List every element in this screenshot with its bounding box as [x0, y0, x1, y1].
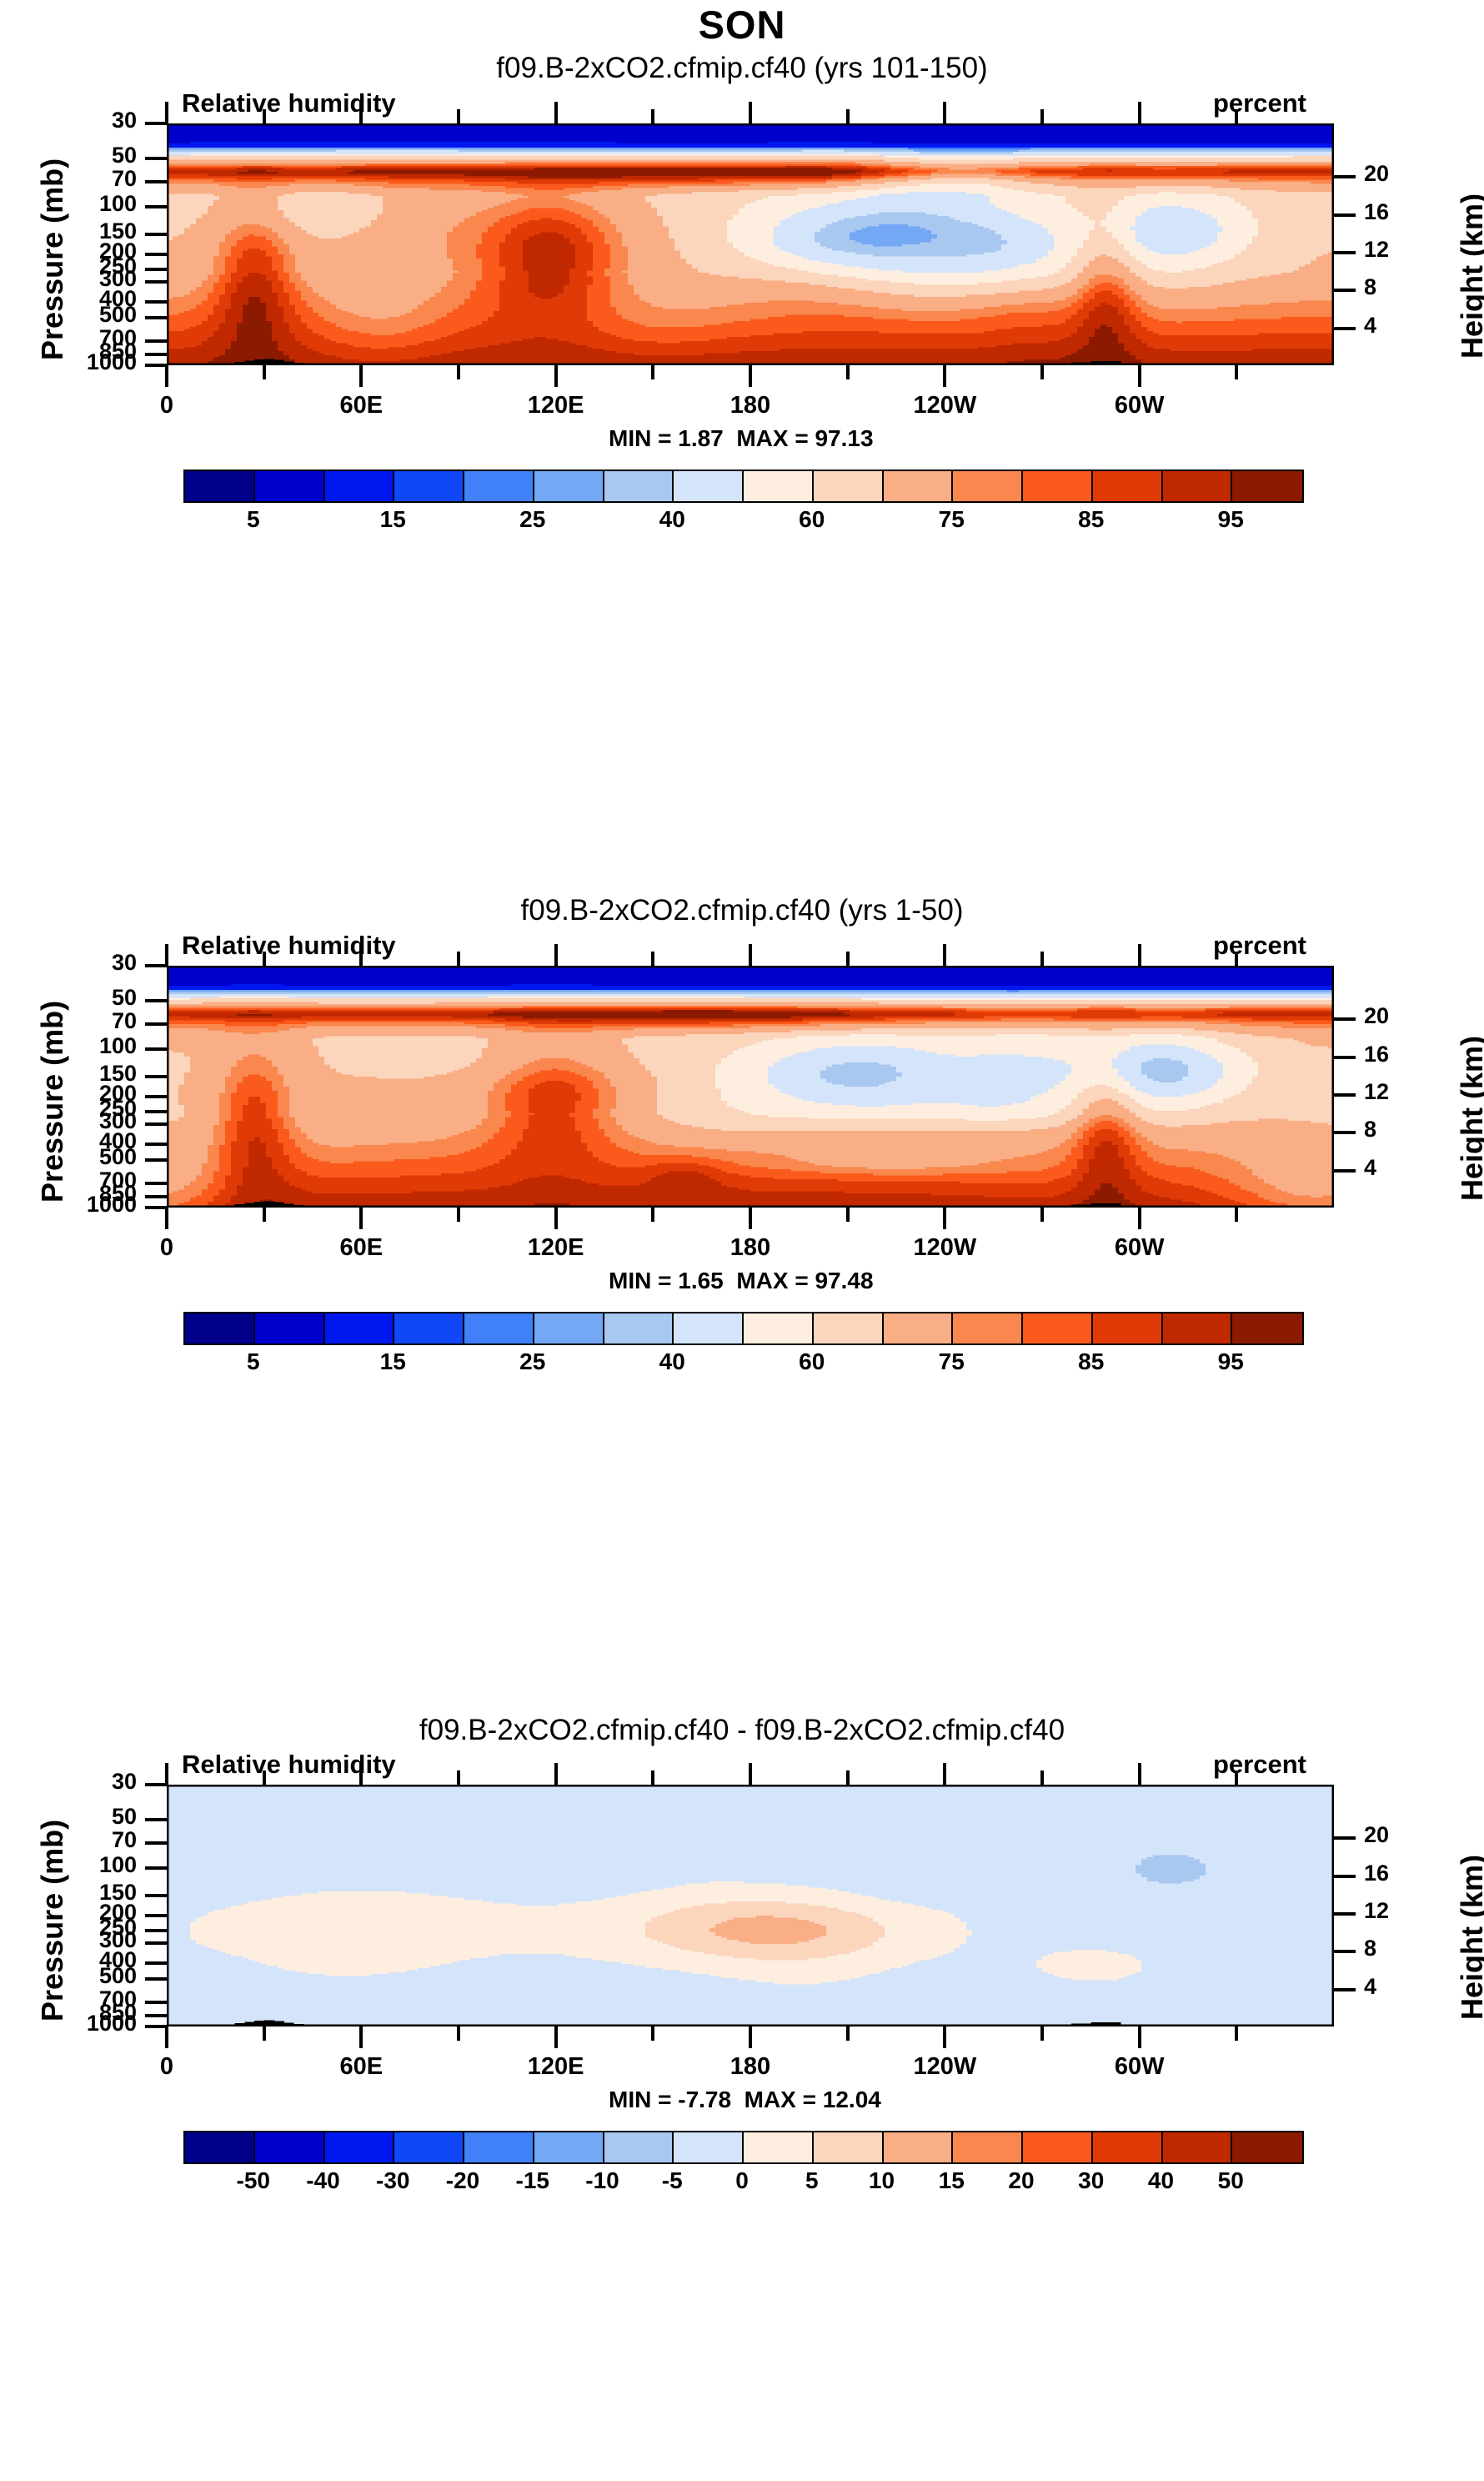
y-tick-label: 30 [45, 108, 137, 133]
colorbar-cell [884, 1313, 954, 1343]
units-label: percent [1213, 1750, 1306, 1780]
x-tick-mark-top [1040, 109, 1044, 123]
colorbar-cell [185, 2132, 255, 2162]
y-tick-label-right: 16 [1364, 1861, 1439, 1886]
y-tick-mark-right [1334, 1056, 1356, 1059]
y-tick-mark-right [1334, 213, 1356, 217]
x-tick-mark [1138, 365, 1141, 387]
x-tick-mark [457, 1208, 460, 1222]
y-tick-mark [145, 300, 167, 304]
minmax-min-value: 1.65 [678, 1268, 724, 1293]
x-tick-label: 120E [498, 2053, 614, 2081]
colorbar-cell [1232, 2132, 1302, 2162]
colorbar-label: 25 [495, 1348, 570, 1375]
x-tick-mark-top [165, 1763, 168, 1785]
colorbar-label: 75 [914, 1348, 989, 1375]
minmax-min-label: MIN = [609, 425, 671, 451]
x-tick-mark-top [1040, 952, 1044, 966]
minmax-min-label: MIN = [609, 1268, 671, 1293]
x-tick-label: 60W [1081, 1234, 1198, 1262]
x-tick-mark [1235, 1208, 1238, 1222]
y-tick-mark [145, 1941, 167, 1945]
colorbar-label: 5 [216, 506, 291, 533]
colorbar-label: 40 [634, 506, 709, 533]
y-tick-mark-right [1334, 1912, 1356, 1916]
colorbar-cell [325, 2132, 395, 2162]
x-tick-mark-top [457, 952, 460, 966]
x-tick-mark [651, 2026, 654, 2041]
y-tick-label-right: 20 [1364, 1003, 1439, 1029]
x-tick-mark-top [1138, 944, 1141, 966]
y-tick-mark [145, 1047, 167, 1051]
colorbar-label: 15 [355, 1348, 430, 1375]
x-tick-mark-top [263, 1770, 266, 1785]
x-tick-mark [263, 1208, 266, 1222]
y-tick-label: 30 [45, 1769, 137, 1795]
y-tick-mark [145, 1894, 167, 1897]
x-tick-mark-top [457, 109, 460, 123]
y-tick-mark [145, 1841, 167, 1845]
colorbar-cell [1023, 471, 1093, 501]
x-tick-mark-top [1138, 102, 1141, 123]
minmax-max-value: 97.13 [815, 425, 873, 451]
x-tick-mark-top [359, 1763, 363, 1785]
minmax-max-value: 97.48 [815, 1268, 873, 1293]
panel-title: f09.B-2xCO2.cfmip.cf40 (yrs 1-50) [0, 894, 1484, 927]
min-max-annotation: MIN = -7.78 MAX = 12.04 [609, 2087, 888, 2113]
x-tick-mark [165, 365, 168, 387]
y-tick-mark [145, 1914, 167, 1917]
y-tick-label: 70 [45, 1008, 137, 1034]
y-tick-label: 70 [45, 1827, 137, 1853]
colorbar-cell [1093, 471, 1163, 501]
colorbar-label: 50 [1193, 2167, 1268, 2194]
colorbar-label: 85 [1054, 506, 1129, 533]
variable-label: Relative humidity [182, 931, 396, 961]
colorbar-label: -10 [565, 2167, 640, 2194]
x-tick-mark-top [359, 102, 363, 123]
colorbar-cell [325, 471, 395, 501]
page-title: SON [0, 2, 1484, 48]
y-tick-mark-right [1334, 1093, 1356, 1097]
units-label: percent [1213, 931, 1306, 961]
y-tick-mark [145, 1182, 167, 1185]
y-tick-label-right: 16 [1364, 199, 1439, 225]
y-tick-label: 100 [45, 1852, 137, 1878]
y-axis-title-right: Height (km) [1455, 1036, 1484, 1201]
y-tick-mark-right [1334, 1017, 1356, 1021]
colorbar-cell [534, 2132, 604, 2162]
x-tick-label: 120W [886, 2053, 1003, 2081]
y-tick-label: 50 [45, 1804, 137, 1830]
y-axis-title-right: Height (km) [1455, 1855, 1484, 2020]
colorbar-label: 5 [216, 1348, 291, 1375]
x-tick-mark-top [1138, 1763, 1141, 1785]
y-tick-label: 100 [45, 191, 137, 217]
y-tick-mark [145, 1977, 167, 1981]
y-tick-mark-right [1334, 289, 1356, 292]
y-tick-label: 500 [45, 1144, 137, 1170]
colorbar-label: -20 [425, 2167, 500, 2194]
x-tick-mark [457, 365, 460, 379]
x-tick-label: 60E [303, 2053, 419, 2081]
x-tick-label: 0 [108, 2053, 225, 2081]
colorbar-cell [953, 2132, 1023, 2162]
x-tick-mark [749, 2026, 752, 2048]
colorbar-cell [1163, 2132, 1233, 2162]
colorbar-label: 20 [984, 2167, 1059, 2194]
x-tick-mark-top [1040, 1770, 1044, 1785]
y-tick-mark-right [1334, 1988, 1356, 1991]
minmax-max-value: 12.04 [823, 2087, 881, 2112]
y-tick-mark [145, 1022, 167, 1026]
colorbar-label: 95 [1193, 1348, 1268, 1375]
y-tick-mark [145, 180, 167, 183]
colorbar-label: 60 [775, 1348, 850, 1375]
colorbar-cell [394, 2132, 464, 2162]
colorbar-cell [674, 2132, 744, 2162]
x-tick-mark [846, 2026, 850, 2041]
y-tick-mark [145, 1206, 167, 1209]
colorbar-cell [744, 1313, 814, 1343]
colorbar-cell [534, 1313, 604, 1343]
y-tick-mark-right [1334, 1131, 1356, 1134]
panel-title: f09.B-2xCO2.cfmip.cf40 (yrs 101-150) [0, 52, 1484, 85]
panel-title: f09.B-2xCO2.cfmip.cf40 - f09.B-2xCO2.cfm… [0, 1714, 1484, 1747]
colorbar-cell [464, 471, 534, 501]
x-tick-mark-top [943, 1763, 946, 1785]
x-tick-mark [359, 365, 363, 387]
x-tick-mark [749, 1208, 752, 1229]
x-tick-mark-top [457, 1770, 460, 1785]
y-tick-mark [145, 205, 167, 208]
y-tick-label-right: 16 [1364, 1042, 1439, 1067]
y-tick-mark-right [1334, 327, 1356, 330]
x-tick-mark-top [1235, 109, 1238, 123]
x-tick-mark-top [749, 1763, 752, 1785]
minmax-max-label: MAX = [736, 1268, 808, 1293]
y-tick-label-right: 4 [1364, 1974, 1439, 2000]
y-tick-mark-right [1334, 1875, 1356, 1878]
colorbar-label: 0 [704, 2167, 780, 2194]
x-tick-mark-top [651, 1770, 654, 1785]
y-tick-label: 70 [45, 166, 137, 192]
colorbar-cell [464, 2132, 534, 2162]
y-tick-label: 50 [45, 143, 137, 168]
y-tick-mark [145, 1158, 167, 1162]
y-tick-mark [145, 1122, 167, 1126]
y-tick-mark [145, 364, 167, 367]
x-tick-label: 60E [303, 392, 419, 419]
y-tick-mark [145, 157, 167, 160]
colorbar-cell [1163, 471, 1233, 501]
colorbar-cell [814, 1313, 884, 1343]
colorbar-cell [185, 1313, 255, 1343]
contour-plot [167, 123, 1334, 365]
y-tick-label-right: 20 [1364, 1822, 1439, 1848]
x-tick-mark-top [846, 952, 850, 966]
x-tick-mark [846, 365, 850, 379]
x-tick-mark [1235, 2026, 1238, 2041]
x-tick-mark-top [359, 944, 363, 966]
y-tick-mark-right [1334, 1950, 1356, 1953]
colorbar-cell [325, 1313, 395, 1343]
y-tick-mark [145, 1195, 167, 1198]
colorbar-cell [674, 1313, 744, 1343]
x-tick-mark-top [749, 944, 752, 966]
x-tick-mark [1138, 2026, 1141, 2048]
contour-plot [167, 966, 1334, 1208]
y-tick-mark [145, 253, 167, 256]
y-tick-label: 50 [45, 985, 137, 1011]
x-tick-mark [359, 2026, 363, 2048]
y-tick-mark-right [1334, 1836, 1356, 1840]
colorbar-cell [1232, 1313, 1302, 1343]
y-tick-label-right: 4 [1364, 1155, 1439, 1181]
x-tick-label: 180 [692, 2053, 809, 2081]
colorbar-cell [744, 471, 814, 501]
y-tick-mark [145, 339, 167, 343]
colorbar-label: 60 [775, 506, 850, 533]
colorbar-cell [604, 2132, 674, 2162]
colorbar-label: 30 [1054, 2167, 1129, 2194]
y-tick-mark [145, 280, 167, 284]
y-tick-label-right: 12 [1364, 1079, 1439, 1105]
x-tick-mark [749, 365, 752, 387]
x-tick-mark [651, 1208, 654, 1222]
colorbar-cell [185, 471, 255, 501]
colorbar-label: -50 [216, 2167, 291, 2194]
y-tick-label-right: 8 [1364, 1936, 1439, 1961]
x-tick-mark [943, 2026, 946, 2048]
x-tick-mark [165, 1208, 168, 1229]
colorbar-cell [1093, 1313, 1163, 1343]
y-tick-label-right: 8 [1364, 1117, 1439, 1143]
y-tick-mark [145, 1783, 167, 1786]
colorbar-cell [744, 2132, 814, 2162]
colorbar-cell [1232, 471, 1302, 501]
y-tick-mark [145, 999, 167, 1002]
x-tick-mark-top [263, 952, 266, 966]
y-tick-mark [145, 2014, 167, 2017]
variable-label: Relative humidity [182, 1750, 396, 1780]
colorbar-cell [464, 1313, 534, 1343]
x-tick-mark [943, 365, 946, 387]
y-tick-mark [145, 1961, 167, 1965]
x-tick-mark-top [943, 944, 946, 966]
x-tick-mark-top [749, 102, 752, 123]
x-tick-mark [263, 365, 266, 379]
colorbar-label: 15 [355, 506, 430, 533]
units-label: percent [1213, 88, 1306, 118]
y-tick-label-right: 12 [1364, 1898, 1439, 1924]
x-tick-mark-top [554, 944, 558, 966]
x-tick-mark [1040, 365, 1044, 379]
x-tick-mark [846, 1208, 850, 1222]
colorbar [183, 470, 1304, 503]
minmax-min-value: -7.78 [678, 2087, 731, 2112]
y-tick-label-right: 20 [1364, 161, 1439, 187]
x-tick-label: 120W [886, 1234, 1003, 1262]
x-tick-label: 0 [108, 1234, 225, 1262]
colorbar-cell [814, 471, 884, 501]
y-tick-mark [145, 233, 167, 236]
y-tick-mark-right [1334, 175, 1356, 178]
y-tick-label: 1000 [45, 349, 137, 375]
y-tick-label: 500 [45, 1963, 137, 1989]
x-tick-mark [1040, 1208, 1044, 1222]
y-tick-label-right: 8 [1364, 274, 1439, 300]
x-tick-mark-top [846, 109, 850, 123]
colorbar-cell [1093, 2132, 1163, 2162]
y-tick-mark-right [1334, 1169, 1356, 1173]
colorbar-cell [604, 471, 674, 501]
contour-plot [167, 1785, 1334, 2026]
colorbar-label: -15 [495, 2167, 570, 2194]
y-tick-mark [145, 1075, 167, 1078]
y-tick-mark [145, 2025, 167, 2028]
x-tick-mark-top [846, 1770, 850, 1785]
x-tick-mark [457, 2026, 460, 2041]
colorbar-cell [953, 1313, 1023, 1343]
x-tick-mark [263, 2026, 266, 2041]
colorbar-cell [674, 471, 744, 501]
x-tick-label: 120W [886, 392, 1003, 419]
colorbar [183, 1312, 1304, 1345]
y-tick-label: 1000 [45, 1192, 137, 1218]
colorbar-label: 85 [1054, 1348, 1129, 1375]
y-tick-mark [145, 268, 167, 271]
y-tick-mark [145, 122, 167, 125]
x-tick-mark [554, 1208, 558, 1229]
x-tick-mark-top [554, 102, 558, 123]
x-tick-mark [651, 365, 654, 379]
min-max-annotation: MIN = 1.65 MAX = 97.48 [609, 1268, 880, 1294]
y-tick-label: 30 [45, 950, 137, 976]
x-tick-label: 0 [108, 392, 225, 419]
y-tick-mark [145, 1929, 167, 1932]
colorbar-label: -30 [355, 2167, 430, 2194]
colorbar-cell [1163, 1313, 1233, 1343]
y-tick-label: 100 [45, 1033, 137, 1059]
colorbar-label: 25 [495, 506, 570, 533]
y-tick-mark-right [1334, 251, 1356, 254]
x-tick-label: 60W [1081, 392, 1198, 419]
x-tick-mark-top [263, 109, 266, 123]
minmax-max-label: MAX = [736, 425, 808, 451]
x-tick-mark-top [165, 102, 168, 123]
colorbar-cell [255, 471, 325, 501]
colorbar-label: 40 [1124, 2167, 1199, 2194]
x-tick-mark-top [1235, 952, 1238, 966]
x-tick-mark [359, 1208, 363, 1229]
x-tick-label: 120E [498, 1234, 614, 1262]
x-tick-mark-top [554, 1763, 558, 1785]
x-tick-mark-top [943, 102, 946, 123]
colorbar-cell [534, 471, 604, 501]
y-tick-label: 1000 [45, 2011, 137, 2037]
x-tick-mark-top [651, 952, 654, 966]
x-tick-label: 120E [498, 392, 614, 419]
colorbar-label: -5 [634, 2167, 709, 2194]
x-tick-label: 180 [692, 392, 809, 419]
x-tick-mark [1040, 2026, 1044, 2041]
x-tick-label: 180 [692, 1234, 809, 1262]
colorbar-label: 75 [914, 506, 989, 533]
y-tick-mark [145, 1818, 167, 1821]
y-tick-mark [145, 1110, 167, 1113]
colorbar-label: 40 [634, 1348, 709, 1375]
y-tick-mark [145, 353, 167, 356]
colorbar-cell [255, 1313, 325, 1343]
x-tick-label: 60W [1081, 2053, 1198, 2081]
x-tick-mark [1235, 365, 1238, 379]
colorbar-label: 95 [1193, 506, 1268, 533]
x-tick-mark-top [651, 109, 654, 123]
min-max-annotation: MIN = 1.87 MAX = 97.13 [609, 425, 880, 452]
y-tick-label-right: 4 [1364, 313, 1439, 339]
colorbar-cell [1023, 2132, 1093, 2162]
x-tick-mark-top [165, 944, 168, 966]
x-tick-mark [554, 2026, 558, 2048]
minmax-min-value: 1.87 [678, 425, 724, 451]
colorbar-cell [1023, 1313, 1093, 1343]
colorbar [183, 2131, 1304, 2164]
y-tick-mark [145, 2001, 167, 2004]
x-tick-mark [554, 365, 558, 387]
x-tick-mark-top [1235, 1770, 1238, 1785]
colorbar-cell [604, 1313, 674, 1343]
colorbar-cell [884, 2132, 954, 2162]
x-tick-mark [943, 1208, 946, 1229]
variable-label: Relative humidity [182, 88, 396, 118]
colorbar-cell [953, 471, 1023, 501]
colorbar-cell [814, 2132, 884, 2162]
colorbar-cell [394, 471, 464, 501]
minmax-max-label: MAX = [745, 2087, 816, 2112]
x-tick-mark [165, 2026, 168, 2048]
colorbar-label: 15 [914, 2167, 989, 2194]
colorbar-label: -40 [286, 2167, 361, 2194]
y-tick-mark [145, 1143, 167, 1146]
colorbar-cell [884, 471, 954, 501]
colorbar-cell [394, 1313, 464, 1343]
y-axis-title-right: Height (km) [1455, 193, 1484, 359]
colorbar-cell [255, 2132, 325, 2162]
y-tick-label-right: 12 [1364, 237, 1439, 263]
y-tick-mark [145, 1095, 167, 1098]
x-tick-label: 60E [303, 1234, 419, 1262]
x-tick-mark [1138, 1208, 1141, 1229]
y-tick-label: 500 [45, 302, 137, 328]
y-tick-mark [145, 316, 167, 319]
minmax-min-label: MIN = [609, 2087, 671, 2112]
colorbar-label: 10 [845, 2167, 920, 2194]
y-tick-mark [145, 1866, 167, 1870]
y-tick-mark [145, 964, 167, 967]
colorbar-label: 5 [775, 2167, 850, 2194]
